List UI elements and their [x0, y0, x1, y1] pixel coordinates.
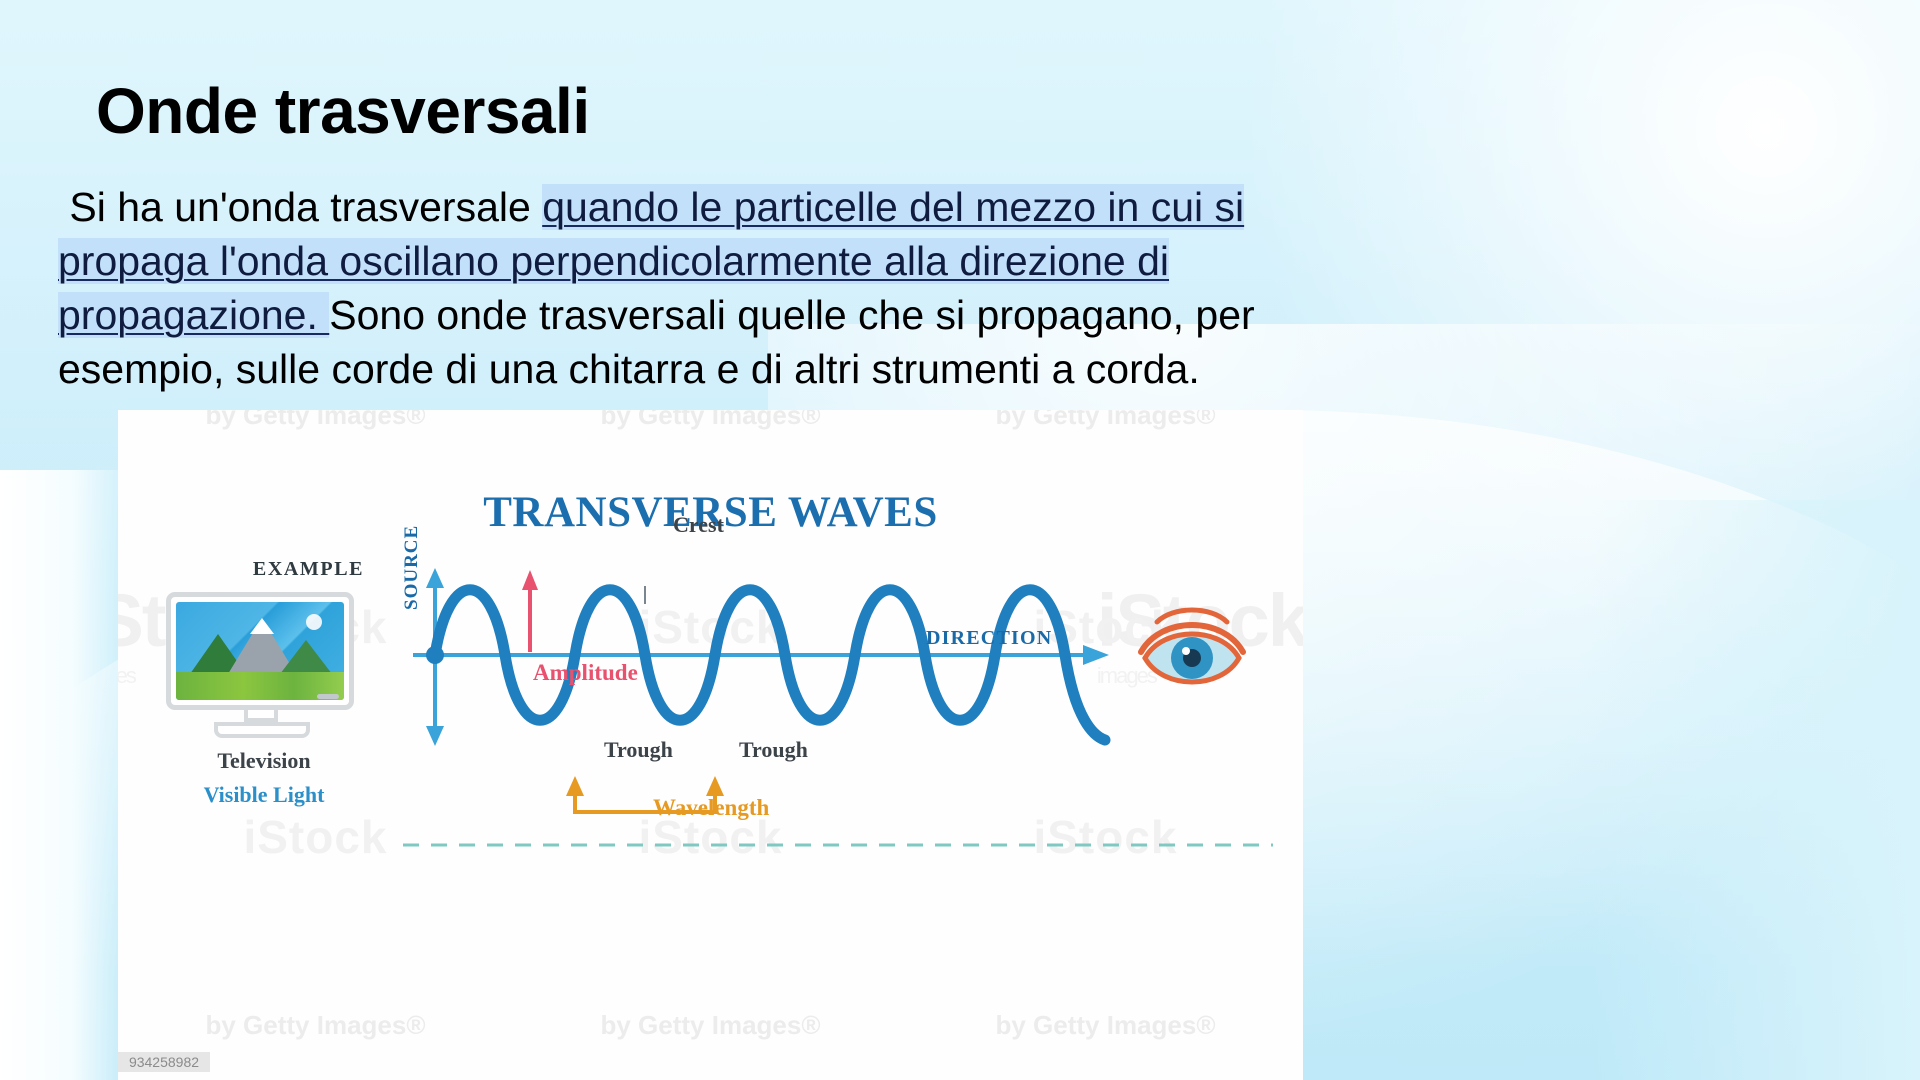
screen-mountain-snow — [250, 618, 274, 634]
television-stand-base — [214, 722, 310, 738]
asset-id-badge: 934258982 — [118, 1052, 210, 1072]
direction-arrowhead — [1083, 645, 1109, 665]
watermark-row-top: by Getty Images® by Getty Images® by Get… — [118, 410, 1303, 431]
background-edge-right — [1590, 500, 1920, 1080]
watermark-byline: by Getty Images® — [995, 410, 1215, 431]
wavelength-arrowhead-left — [566, 776, 584, 796]
watermark-brand-text: iStock — [243, 810, 387, 864]
screen-mountain — [280, 640, 332, 674]
television-stand-neck — [244, 710, 278, 722]
source-arrowhead-up — [426, 568, 444, 588]
transverse-waves-illustration: by Getty Images® by Getty Images® by Get… — [118, 410, 1303, 1080]
paragraph-lead: Si ha un'onda trasversale — [58, 184, 542, 230]
visible-light-caption: Visible Light — [156, 782, 372, 808]
background-edge-left — [0, 470, 130, 1080]
trough-label-right: Trough — [739, 737, 808, 763]
slide-canvas: Onde trasversali Si ha un'onda trasversa… — [0, 0, 1920, 1080]
amplitude-arrowhead — [522, 570, 538, 590]
eye-icon — [1141, 610, 1243, 682]
wave-diagram — [393, 540, 1293, 870]
television-screen — [176, 602, 344, 700]
wavelength-arrowhead-right — [706, 776, 724, 796]
television-caption: Television — [166, 748, 362, 774]
amplitude-label: Amplitude — [533, 660, 638, 686]
wavelength-label: Wavelength — [653, 795, 769, 821]
crest-label: Crest — [673, 512, 724, 538]
television-icon — [166, 592, 354, 710]
body-paragraph: Si ha un'onda trasversale quando le part… — [58, 180, 1398, 396]
trough-label-left: Trough — [604, 737, 673, 763]
page-title: Onde trasversali — [96, 78, 590, 145]
watermark-byline: by Getty Images® — [205, 1010, 425, 1041]
screen-sun — [306, 614, 322, 630]
source-arrowhead-down — [426, 726, 444, 746]
television-button — [317, 694, 339, 699]
watermark-byline: by Getty Images® — [600, 1010, 820, 1041]
watermark-byline: by Getty Images® — [205, 410, 425, 431]
watermark-byline: by Getty Images® — [995, 1010, 1215, 1041]
direction-label: DIRECTION — [926, 627, 1052, 650]
source-label: SOURCE — [401, 525, 423, 610]
watermark-byline: by Getty Images® — [600, 410, 820, 431]
watermark-row-bottom: by Getty Images® by Getty Images® by Get… — [118, 1010, 1303, 1041]
